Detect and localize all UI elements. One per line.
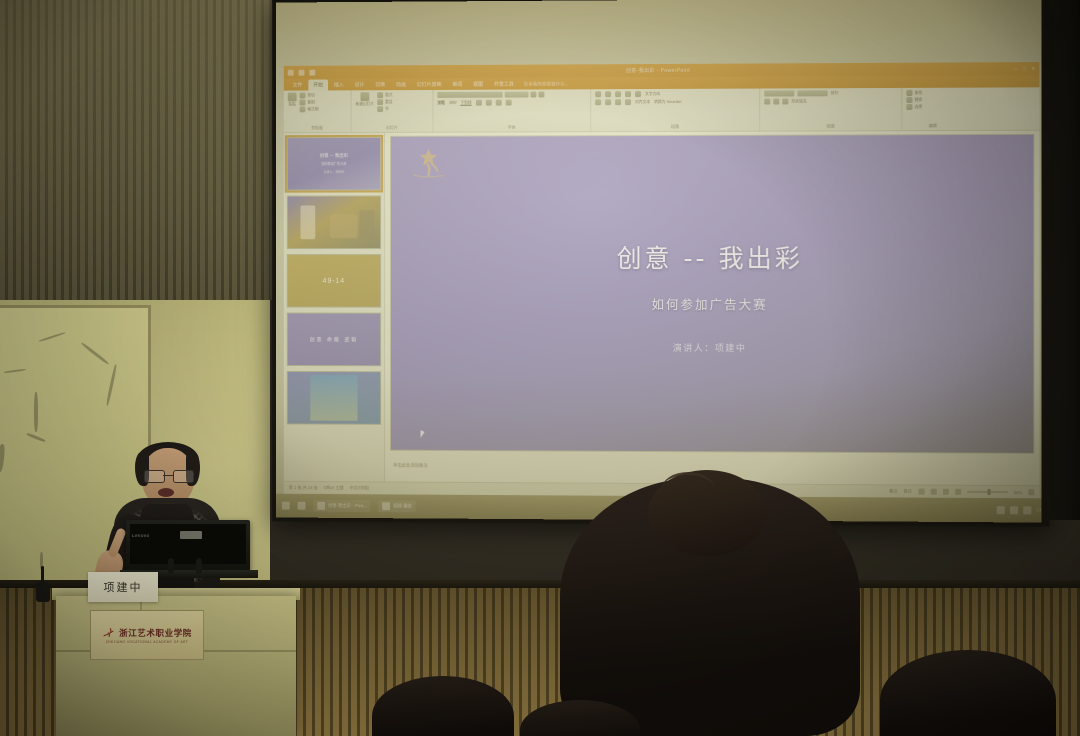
notes-placeholder: 单击此处添加备注 bbox=[393, 463, 428, 468]
group-label-drawing: 绘图 bbox=[764, 123, 897, 130]
venue-plaque-en: ZHEJIANG VOCATIONAL ACADEMY OF ART bbox=[106, 640, 189, 644]
tell-me-box[interactable]: 告诉我你想要做什么... bbox=[520, 79, 573, 89]
quick-styles-gallery[interactable] bbox=[797, 90, 827, 96]
group-label-editing: 编辑 bbox=[906, 123, 959, 130]
tab-home[interactable]: 开始 bbox=[308, 80, 328, 91]
slide-byline: 演讲人：项建中 bbox=[391, 340, 1033, 354]
taskbar-item-media[interactable]: 视频 播放 bbox=[378, 500, 415, 512]
group-label-font: 字体 bbox=[437, 124, 586, 131]
slide-editing-stage: 创意 -- 我出彩 如何参加广告大赛 演讲人：项建中 单击此处添加备注 bbox=[385, 131, 1039, 485]
fit-to-window-icon[interactable] bbox=[1028, 489, 1034, 495]
tab-view[interactable]: 视图 bbox=[468, 79, 488, 90]
taskbar-clock[interactable]: 13:42 bbox=[1036, 508, 1041, 514]
search-icon bbox=[906, 90, 912, 96]
tab-animations[interactable]: 动画 bbox=[391, 79, 411, 90]
shape-fill-icon[interactable] bbox=[764, 99, 770, 105]
font-size-select[interactable] bbox=[505, 92, 529, 98]
wall-slats-shading bbox=[0, 0, 270, 300]
window-title: 创意-我出彩 - PowerPoint bbox=[284, 65, 1040, 76]
tab-design[interactable]: 设计 bbox=[350, 79, 370, 90]
select-icon bbox=[906, 104, 912, 110]
align-center-icon[interactable] bbox=[605, 99, 611, 105]
line-spacing-icon[interactable] bbox=[635, 91, 641, 97]
replace-button[interactable]: 替换 bbox=[906, 97, 922, 103]
align-left-icon[interactable] bbox=[595, 99, 601, 105]
window-controls: — □ ✕ bbox=[1013, 66, 1036, 72]
ribbon-group-font: 加粗 倾斜 下划线 字体 bbox=[433, 89, 591, 131]
ribbon-group-paragraph: 文字方向 对齐文本 转换为 SmartArt 段落 bbox=[591, 89, 760, 132]
network-icon[interactable] bbox=[997, 506, 1005, 514]
ribbon-group-editing: 查找 替换 选择 编辑 bbox=[902, 88, 963, 131]
italic-button[interactable]: 倾斜 bbox=[449, 100, 457, 105]
increase-indent-icon[interactable] bbox=[625, 91, 631, 97]
volume-icon[interactable] bbox=[1010, 506, 1018, 514]
ime-icon[interactable] bbox=[1023, 506, 1031, 514]
list-item[interactable]: 创意 命题 逻辑 bbox=[287, 313, 381, 367]
language-label[interactable]: 中文(中国) bbox=[350, 485, 369, 491]
start-icon[interactable] bbox=[282, 502, 290, 510]
paste-button[interactable]: 粘贴 bbox=[288, 93, 297, 108]
tab-file[interactable]: 文件 bbox=[288, 80, 308, 91]
copy-button[interactable]: 复制 bbox=[300, 99, 319, 105]
character-spacing-icon[interactable] bbox=[495, 100, 501, 106]
speaker-mouth bbox=[158, 488, 174, 497]
microphone-center bbox=[168, 558, 174, 574]
ribbon-group-drawing: 排列 形状填充 绘图 bbox=[760, 88, 902, 131]
speaker-pointing-finger bbox=[107, 527, 127, 558]
powerpoint-window: 创意-我出彩 - PowerPoint — □ ✕ 文件 开始 插入 设计 切换… bbox=[284, 62, 1040, 498]
reset-icon bbox=[377, 99, 383, 105]
thumb-4-title: 创意 命题 逻辑 bbox=[310, 336, 358, 343]
zoom-slider-handle[interactable] bbox=[987, 489, 990, 495]
powerpoint-icon bbox=[317, 502, 325, 510]
explorer-icon[interactable] bbox=[298, 502, 306, 510]
layout-button[interactable]: 版式 bbox=[377, 92, 392, 98]
tab-review[interactable]: 审阅 bbox=[447, 79, 467, 90]
font-family-select[interactable] bbox=[437, 92, 502, 98]
slideshow-icon[interactable] bbox=[955, 489, 961, 495]
thumb-1-byline: 演讲人：项建中 bbox=[320, 169, 349, 174]
lecture-hall-scene: 创意-我出彩 - PowerPoint — □ ✕ 文件 开始 插入 设计 切换… bbox=[0, 0, 1080, 736]
tab-insert[interactable]: 插入 bbox=[329, 79, 349, 90]
ribbon: 粘贴 剪切 复制 bbox=[284, 87, 1040, 133]
section-icon bbox=[377, 106, 383, 112]
ribbon-group-clipboard: 粘贴 剪切 复制 bbox=[284, 90, 352, 132]
shape-fill-label[interactable]: 形状填充 bbox=[791, 99, 806, 104]
list-item[interactable]: 49-14 bbox=[287, 254, 381, 308]
list-item[interactable]: 创意 -- 我出彩 如何参加广告大赛 演讲人：项建中 bbox=[287, 137, 381, 191]
align-text-button[interactable]: 对齐文本 bbox=[635, 100, 650, 105]
find-button[interactable]: 查找 bbox=[906, 90, 922, 96]
new-slide-icon bbox=[360, 92, 369, 101]
taskbar-item-powerpoint[interactable]: 创意-我出彩 - Pow... bbox=[313, 500, 370, 512]
zoom-level[interactable]: 66% bbox=[1014, 490, 1023, 495]
text-shadow-icon[interactable] bbox=[476, 100, 482, 106]
theme-label[interactable]: Office 主题 bbox=[324, 485, 344, 491]
microphone-stem-left bbox=[41, 566, 44, 584]
maximize-button[interactable]: □ bbox=[1023, 66, 1026, 72]
laptop-sticker bbox=[180, 531, 202, 539]
group-label-clipboard: 剪贴板 bbox=[288, 125, 347, 132]
reading-view-icon[interactable] bbox=[943, 489, 949, 495]
shapes-gallery[interactable] bbox=[764, 90, 794, 96]
slide-subtitle: 如何参加广告大赛 bbox=[391, 293, 1033, 313]
scissors-icon bbox=[300, 93, 306, 99]
slide-sorter-icon[interactable] bbox=[930, 489, 936, 495]
align-right-icon[interactable] bbox=[615, 99, 621, 105]
font-color-icon[interactable] bbox=[505, 100, 511, 106]
venue-plaque: 浙江艺术职业学院 ZHEJIANG VOCATIONAL ACADEMY OF … bbox=[90, 610, 204, 660]
mouse-cursor-icon bbox=[421, 430, 425, 438]
editor-body: 创意 -- 我出彩 如何参加广告大赛 演讲人：项建中 49-14 bbox=[284, 131, 1040, 485]
format-painter-button[interactable]: 格式刷 bbox=[300, 106, 319, 112]
numbering-icon[interactable] bbox=[605, 91, 611, 97]
bullets-icon[interactable] bbox=[595, 91, 601, 97]
microphone-left bbox=[36, 582, 50, 602]
laptop-display bbox=[130, 524, 246, 564]
arrange-button[interactable]: 排列 bbox=[831, 91, 839, 96]
slide-counter: 第 1 张,共 14 张 bbox=[289, 485, 318, 491]
group-label-paragraph: 段落 bbox=[595, 124, 755, 132]
slide-thumbnail-panel[interactable]: 创意 -- 我出彩 如何参加广告大赛 演讲人：项建中 49-14 bbox=[284, 133, 385, 482]
cut-button[interactable]: 剪切 bbox=[300, 92, 319, 98]
shape-outline-icon[interactable] bbox=[773, 98, 779, 104]
list-item[interactable] bbox=[287, 371, 381, 425]
select-button[interactable]: 选择 bbox=[906, 104, 922, 110]
layout-icon bbox=[377, 92, 383, 98]
section-button[interactable]: 节 bbox=[377, 106, 392, 112]
system-tray: 13:42 bbox=[997, 506, 1042, 514]
tab-developer[interactable]: 开发工具 bbox=[489, 79, 519, 90]
current-slide[interactable]: 创意 -- 我出彩 如何参加广告大赛 演讲人：项建中 bbox=[391, 135, 1033, 453]
bold-button[interactable]: 加粗 bbox=[437, 100, 445, 105]
ribbon-group-slides: 新建幻灯片 版式 重设 bbox=[352, 90, 434, 132]
reset-button[interactable]: 重设 bbox=[377, 99, 392, 105]
microphone-right bbox=[196, 558, 202, 574]
dancer-academy-logo-icon bbox=[407, 147, 450, 181]
brush-icon bbox=[300, 106, 306, 112]
nameplate: 项建中 bbox=[88, 572, 158, 602]
paste-icon bbox=[288, 93, 297, 102]
close-button[interactable]: ✕ bbox=[1031, 66, 1035, 72]
comments-button[interactable]: 批注 bbox=[904, 488, 912, 494]
normal-view-icon[interactable] bbox=[918, 489, 924, 495]
copy-icon bbox=[300, 99, 306, 105]
convert-smartart-button[interactable]: 转换为 SmartArt bbox=[654, 99, 681, 104]
justify-icon[interactable] bbox=[625, 99, 631, 105]
projector-screen: 创意-我出彩 - PowerPoint — □ ✕ 文件 开始 插入 设计 切换… bbox=[276, 0, 1042, 523]
decrease-font-icon[interactable] bbox=[538, 91, 544, 97]
academy-emblem-icon bbox=[102, 626, 115, 639]
laptop-brand-label: Lenovo bbox=[132, 533, 149, 538]
slide-title: 创意 -- 我出彩 bbox=[391, 238, 1033, 274]
nameplate-text: 项建中 bbox=[104, 579, 143, 595]
strikethrough-icon[interactable] bbox=[485, 100, 491, 106]
notes-button[interactable]: 备注 bbox=[889, 488, 897, 494]
media-icon bbox=[382, 502, 390, 510]
text-direction-button[interactable]: 文字方向 bbox=[645, 91, 660, 96]
speaker-glasses bbox=[144, 470, 192, 481]
minimize-button[interactable]: — bbox=[1013, 66, 1018, 72]
shape-effects-icon[interactable] bbox=[782, 98, 788, 104]
thumb-3-title: 49-14 bbox=[323, 277, 346, 284]
decrease-indent-icon[interactable] bbox=[615, 91, 621, 97]
tab-slideshow[interactable]: 幻灯片放映 bbox=[412, 79, 447, 90]
replace-icon bbox=[906, 97, 912, 103]
increase-font-icon[interactable] bbox=[530, 92, 536, 98]
tab-transitions[interactable]: 切换 bbox=[370, 79, 390, 90]
underline-button[interactable]: 下划线 bbox=[460, 100, 471, 105]
group-label-slides: 幻灯片 bbox=[356, 125, 429, 132]
audience-hair-strand bbox=[662, 472, 714, 505]
zoom-slider[interactable] bbox=[967, 491, 1008, 493]
venue-plaque-cn: 浙江艺术职业学院 bbox=[119, 627, 192, 639]
new-slide-button[interactable]: 新建幻灯片 bbox=[356, 92, 375, 107]
thumb-1-sub: 如何参加广告大赛 bbox=[320, 162, 349, 167]
list-item[interactable] bbox=[287, 195, 381, 249]
thumb-1-title: 创意 -- 我出彩 bbox=[320, 154, 349, 159]
